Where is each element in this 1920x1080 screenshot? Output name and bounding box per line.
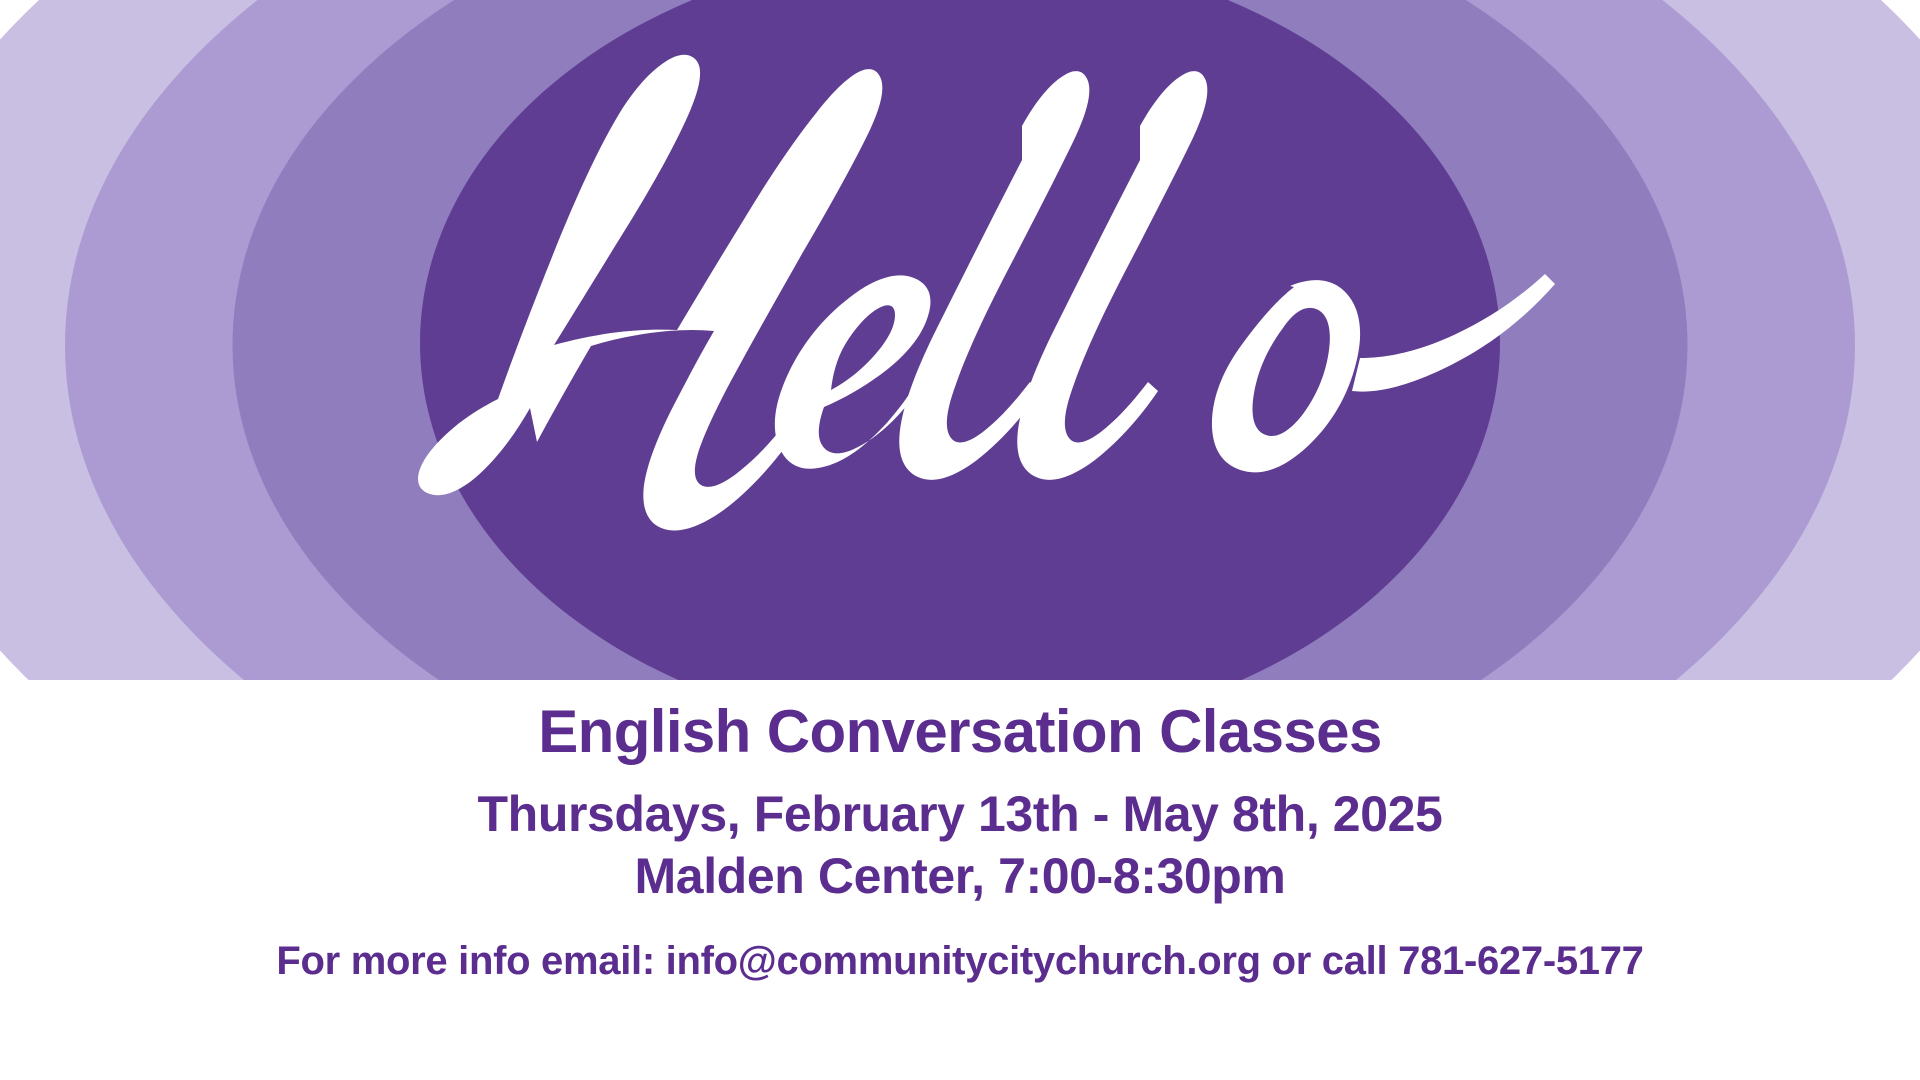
schedule-dates: Thursdays, February 13th - May 8th, 2025 <box>478 783 1443 845</box>
poster-root: English Conversation Classes Thursdays, … <box>0 0 1920 1080</box>
page-title: English Conversation Classes <box>538 698 1381 765</box>
info-panel: English Conversation Classes Thursdays, … <box>0 680 1920 1080</box>
contact-info: For more info email: info@communitycityc… <box>276 937 1643 985</box>
ring-core <box>420 0 1500 680</box>
banner-rings <box>0 0 1920 680</box>
schedule-location-time: Malden Center, 7:00-8:30pm <box>635 845 1286 907</box>
